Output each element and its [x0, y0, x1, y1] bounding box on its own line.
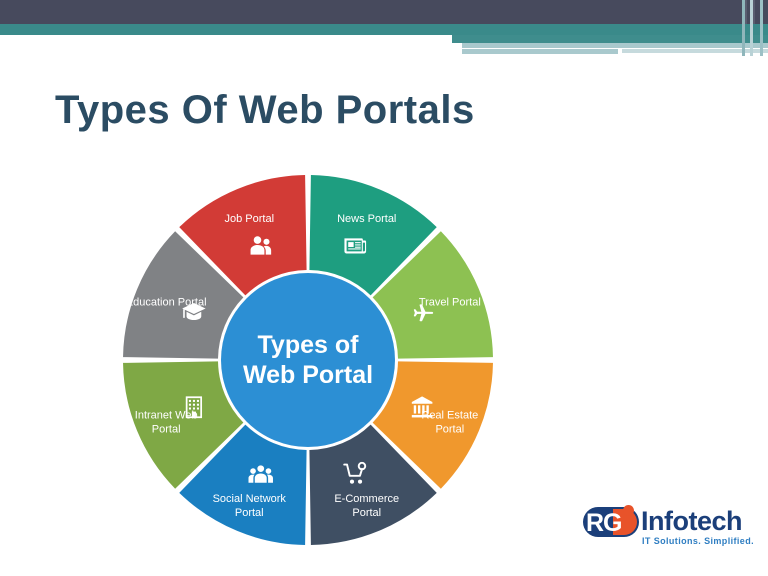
header-vertical-line-1 — [742, 0, 745, 56]
header-teal-band-secondary — [452, 35, 768, 43]
wheel-segment-label-intranet-web-portal: Portal — [152, 424, 181, 436]
rg-infotech-logo: RG Infotech IT Solutions. Simplified. — [583, 503, 758, 551]
wheel-segment-label-real-estate-portal: Real Estate — [421, 410, 478, 422]
wheel-segment-label-e-commerce-portal: Portal — [352, 507, 381, 519]
wheel-segment-label-travel-portal: Travel Portal — [419, 296, 481, 308]
wheel-segment-label-news-portal: News Portal — [337, 213, 396, 225]
logo-tagline: IT Solutions. Simplified. — [642, 536, 754, 546]
wheel-segment-label-social-network-portal: Portal — [235, 507, 264, 519]
wheel-segment-label-social-network-portal: Social Network — [213, 493, 287, 505]
header-teal-band — [0, 24, 768, 35]
web-portal-types-wheel: News PortalTravel PortalReal EstatePorta… — [108, 165, 508, 555]
header-stripe-c — [622, 49, 768, 53]
logo-orange-dot — [623, 505, 634, 516]
slide-canvas: Types Of Web Portals — [0, 0, 768, 576]
header-dark-band — [0, 0, 768, 24]
wheel-segment-label-intranet-web-portal: Intranet Web — [135, 410, 198, 422]
page-title: Types Of Web Portals — [55, 88, 475, 133]
header-vertical-line-2 — [750, 0, 753, 56]
wheel-segment-label-real-estate-portal: Portal — [435, 424, 464, 436]
header-stripe-b — [462, 49, 618, 54]
wheel-segment-label-job-portal: Job Portal — [224, 213, 274, 225]
header-vertical-line-3 — [760, 0, 763, 56]
logo-rg-text: RG — [586, 509, 622, 538]
wheel-segment-label-e-commerce-portal: E-Commerce — [334, 493, 399, 505]
wheel-center-circle — [221, 273, 395, 447]
logo-wordmark: Infotech — [641, 506, 742, 537]
wheel-segment-label-education-portal: Education Portal — [126, 296, 207, 308]
wheel-center-line1: Types of — [258, 331, 360, 359]
wheel-center-line2: Web Portal — [243, 361, 373, 389]
header-stripe-a — [462, 43, 768, 48]
